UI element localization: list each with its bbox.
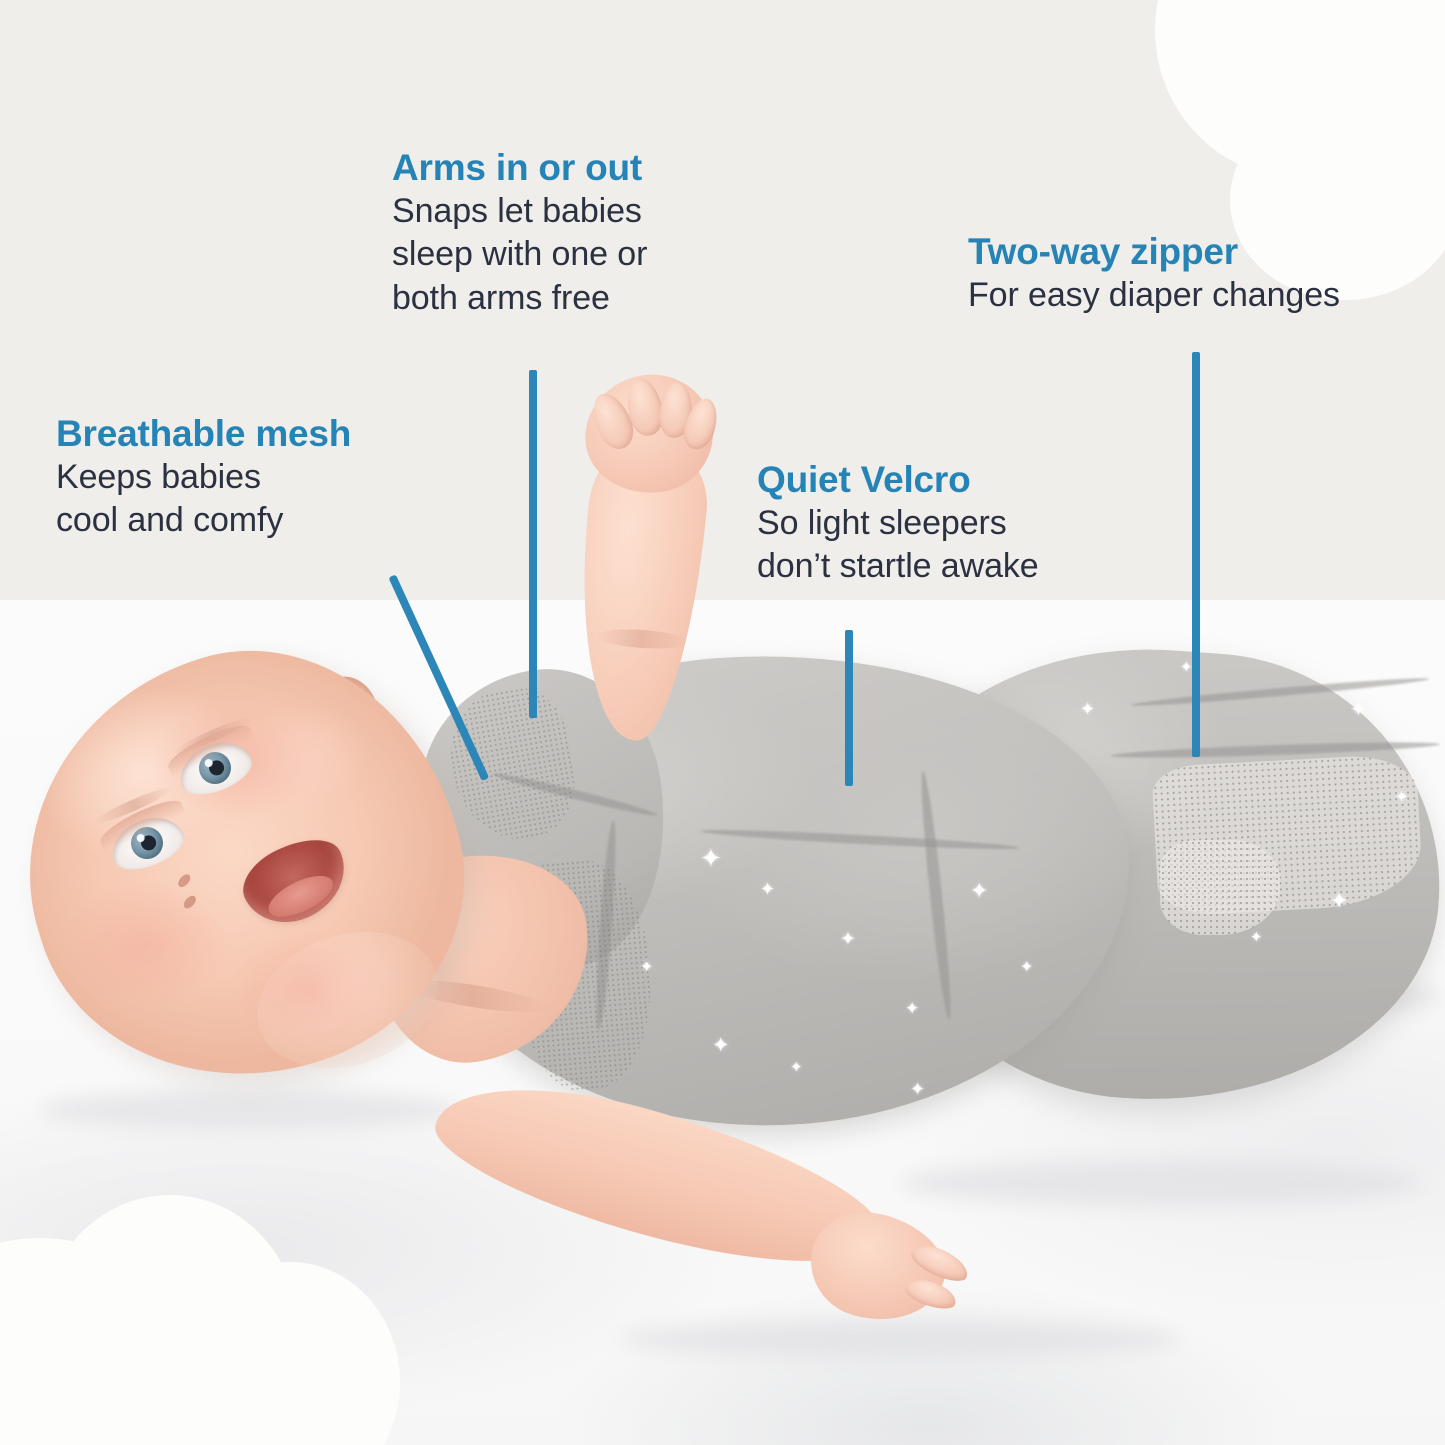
star-print: ✦ xyxy=(910,1080,925,1098)
star-print: ✦ xyxy=(640,960,653,976)
callout-body-arms: Snaps let babies sleep with one or both … xyxy=(392,190,647,321)
callout-body-line: don’t startle awake xyxy=(757,545,1039,589)
callout-body-line: So light sleepers xyxy=(757,502,1039,546)
star-print: ✦ xyxy=(700,845,722,871)
callout-body-line: Snaps let babies xyxy=(392,190,647,234)
sheet-fold xyxy=(900,1160,1420,1206)
callout-quiet-velcro: Quiet Velcro So light sleepers don’t sta… xyxy=(757,460,1039,589)
star-print: ✦ xyxy=(790,1060,803,1075)
star-print: ✦ xyxy=(1250,930,1263,945)
leader-line-zipper xyxy=(1192,352,1200,757)
callout-heading-zipper: Two-way zipper xyxy=(968,232,1340,272)
callout-body-zipper: For easy diaper changes xyxy=(968,274,1340,318)
star-print: ✦ xyxy=(712,1035,730,1056)
star-print: ✦ xyxy=(1330,890,1348,912)
mesh-panel-hip-lower xyxy=(1160,840,1280,935)
star-print: ✦ xyxy=(1395,790,1408,806)
callout-heading-velcro: Quiet Velcro xyxy=(757,460,1039,500)
callout-body-mesh: Keeps babies cool and comfy xyxy=(56,456,351,543)
sheet-fold xyxy=(620,1320,1180,1358)
star-print: ✦ xyxy=(1180,660,1193,675)
callout-two-way-zipper: Two-way zipper For easy diaper changes xyxy=(968,232,1340,317)
infographic-canvas: ✦ ✦ ✦ ✦ ✦ ✦ ✦ ✦ ✦ ✦ ✦ ✦ ✦ ✦ ✦ ✦ xyxy=(0,0,1445,1445)
callout-heading-mesh: Breathable mesh xyxy=(56,414,351,454)
callout-arms-in-or-out: Arms in or out Snaps let babies sleep wi… xyxy=(392,148,647,321)
baby-cheek xyxy=(230,930,390,1050)
callout-body-line: both arms free xyxy=(392,277,647,321)
sheet-fold xyxy=(40,1090,460,1130)
star-print: ✦ xyxy=(905,1000,919,1017)
star-print: ✦ xyxy=(760,880,775,898)
leader-line-velcro xyxy=(845,630,853,786)
leader-line-arms xyxy=(529,370,537,718)
callout-heading-arms: Arms in or out xyxy=(392,148,647,188)
callout-body-line: sleep with one or xyxy=(392,233,647,277)
star-print: ✦ xyxy=(1080,700,1095,718)
star-print: ✦ xyxy=(1020,960,1033,976)
star-print: ✦ xyxy=(1350,700,1367,720)
star-print: ✦ xyxy=(840,930,856,949)
callout-body-velcro: So light sleepers don’t startle awake xyxy=(757,502,1039,589)
callout-body-line: Keeps babies xyxy=(56,456,351,500)
callout-body-line: cool and comfy xyxy=(56,499,351,543)
callout-breathable-mesh: Breathable mesh Keeps babies cool and co… xyxy=(56,414,351,543)
star-print: ✦ xyxy=(970,880,988,902)
callout-body-line: For easy diaper changes xyxy=(968,274,1340,318)
